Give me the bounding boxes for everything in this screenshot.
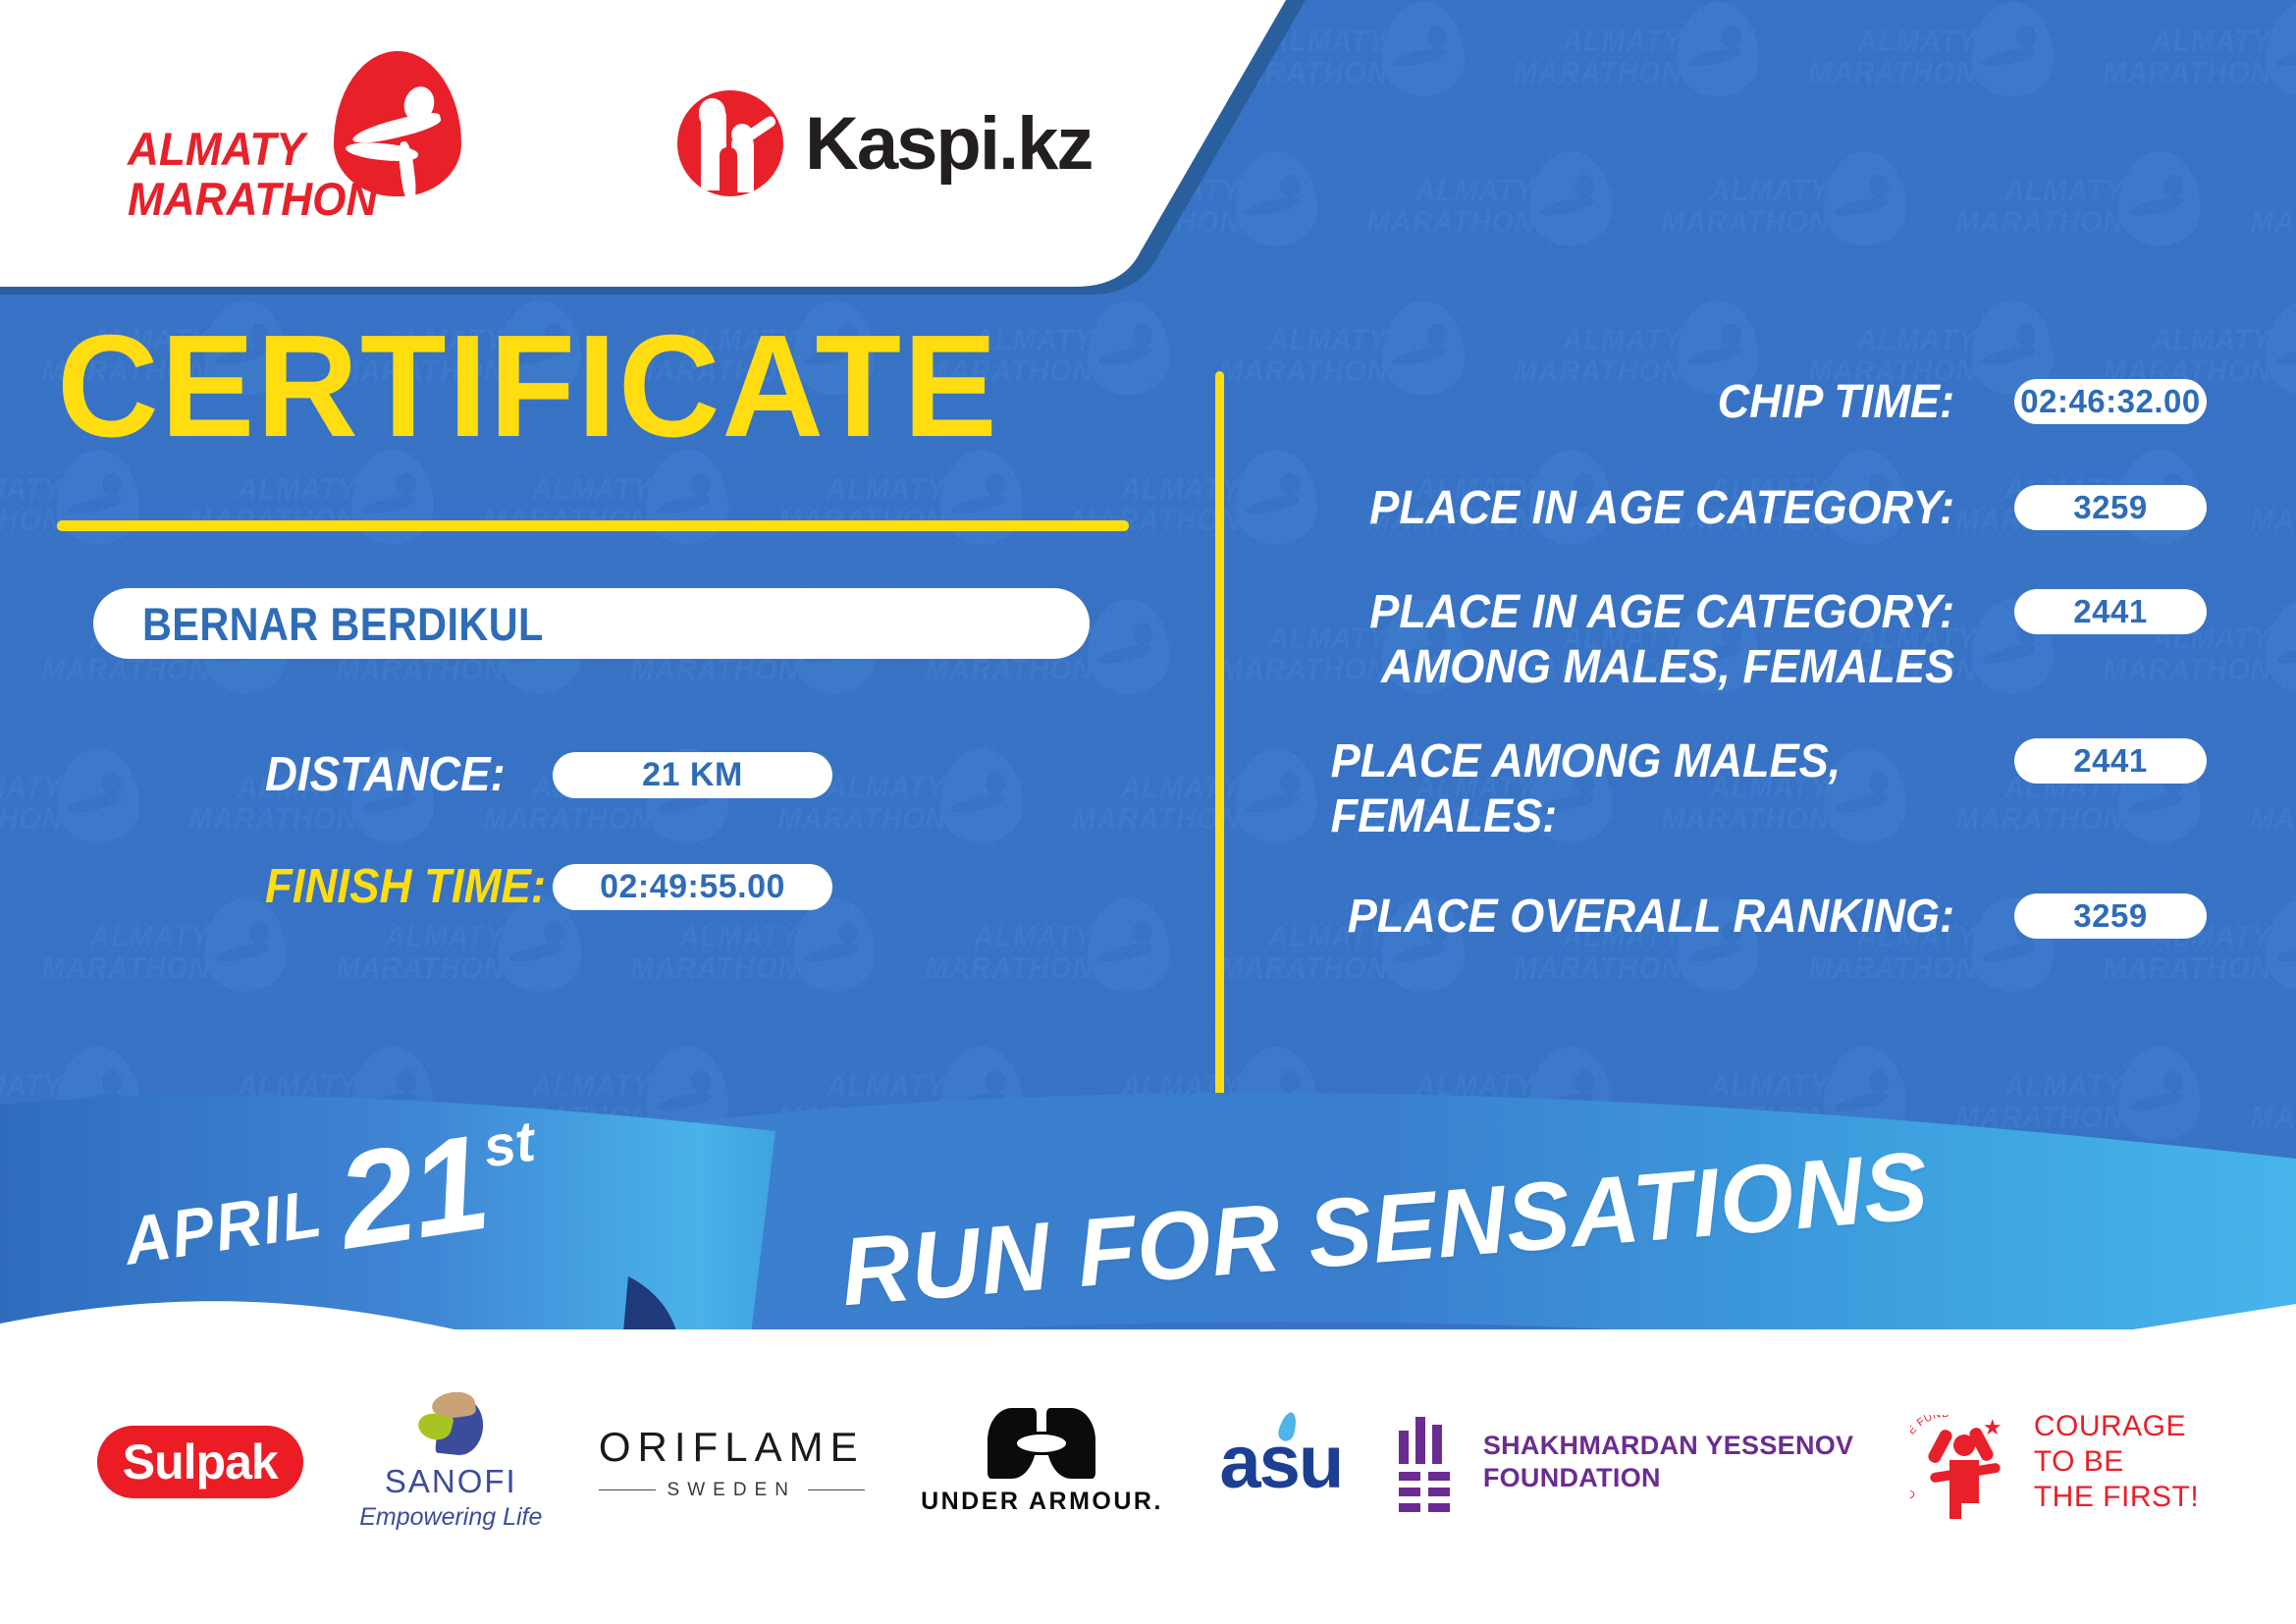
- watermark-drop-icon: [2266, 897, 2296, 992]
- overall-ranking-value: 3259: [2014, 893, 2207, 939]
- sanofi-wordmark: SANOFI: [385, 1463, 517, 1500]
- kaspi-wordmark: Kaspi.kz: [805, 101, 1092, 187]
- event-day: 21: [331, 1121, 494, 1264]
- among-gender-value: 2441: [2014, 738, 2207, 784]
- result-row-age-category: PLACE IN AGE CATEGORY: 3259: [1294, 481, 2207, 536]
- watermark-text: ALMATYMARATHON: [17, 921, 210, 984]
- yess-dash-4: [1428, 1488, 1450, 1496]
- corporate-fund-icon: CORPORATE FUND ★: [1910, 1411, 2016, 1513]
- header-logos: ALMATY MARATHON: [0, 0, 1227, 285]
- finish-time-row: FINISH TIME: 02:49:55.00: [265, 859, 1178, 914]
- watermark-text: ALMATYMARATHON: [606, 921, 799, 984]
- watermark-tile: ALMATYMARATHON: [589, 895, 883, 1043]
- yess-bar-3: [1432, 1425, 1442, 1464]
- yess-bar-1: [1399, 1431, 1409, 1464]
- among-gender-label-line1: PLACE AMONG MALES,: [1331, 735, 1842, 787]
- among-gender-label-line2: FEMALES:: [1331, 790, 1558, 842]
- yess-dash-6: [1428, 1503, 1450, 1512]
- oriflame-subline: SWEDEN: [599, 1480, 865, 1501]
- yessenov-lockup: SHAKHMARDAN YESSENOV FOUNDATION: [1399, 1417, 1854, 1507]
- sponsor-under-armour: UNDER ARMOUR.: [921, 1408, 1163, 1516]
- age-category-gender-label-line2: AMONG MALES, FEMALES: [1381, 641, 1954, 693]
- kaspi-negative-space: [720, 147, 737, 192]
- yessenov-wordmark: SHAKHMARDAN YESSENOV FOUNDATION: [1483, 1430, 1854, 1494]
- result-row-age-category-gender: PLACE IN AGE CATEGORY: AMONG MALES, FEMA…: [1294, 585, 2207, 695]
- among-gender-label: PLACE AMONG MALES, FEMALES:: [1294, 734, 1971, 844]
- header-panel: ALMATY MARATHON: [0, 0, 2296, 295]
- chip-time-value: 02:46:32.00: [2014, 379, 2207, 424]
- cf-leg: [1949, 1497, 1961, 1519]
- watermark-drop-icon: [2266, 599, 2296, 693]
- courage-line-2: TO BE: [2034, 1445, 2124, 1478]
- distance-label: DISTANCE:: [265, 747, 525, 802]
- distance-value: 21 KM: [553, 752, 832, 798]
- watermark-drop-icon: [2266, 300, 2296, 395]
- almaty-marathon-logo: ALMATY MARATHON: [128, 47, 461, 224]
- age-category-gender-label: PLACE IN AGE CATEGORY: AMONG MALES, FEMA…: [1294, 585, 1971, 695]
- sanofi-tagline: Empowering Life: [359, 1503, 542, 1532]
- oriflame-rule-right: [808, 1489, 865, 1491]
- result-row-chip-time: CHIP TIME: 02:46:32.00: [1294, 375, 2207, 430]
- age-category-gender-value: 2441: [2014, 589, 2207, 634]
- yess-dash-5: [1399, 1503, 1420, 1512]
- sponsor-sulpak: Sulpak: [97, 1426, 303, 1498]
- corporate-fund-lockup: CORPORATE FUND ★ COURAGE T: [1910, 1409, 2199, 1515]
- watermark-tile: ALMATYMARATHON: [2209, 448, 2296, 595]
- sanofi-icon: [412, 1392, 489, 1457]
- event-day-ordinal: st: [479, 1109, 539, 1181]
- finish-time-label: FINISH TIME:: [265, 859, 525, 914]
- watermark-tile: ALMATYMARATHON: [883, 895, 1178, 1043]
- yess-dash-3: [1399, 1488, 1420, 1496]
- oriflame-rule-left: [599, 1489, 656, 1491]
- oriflame-country: SWEDEN: [667, 1480, 796, 1501]
- yess-bar-2: [1415, 1417, 1425, 1464]
- sponsor-oriflame: ORIFLAME SWEDEN: [599, 1424, 865, 1501]
- watermark-tile: ALMATYMARATHON: [294, 895, 589, 1043]
- overall-ranking-label: PLACE OVERALL RANKING:: [1294, 890, 1971, 945]
- watermark-text: ALMATYMARATHON: [2225, 473, 2296, 536]
- age-category-value: 3259: [2014, 485, 2207, 530]
- under-armour-icon: [988, 1408, 1095, 1479]
- yess-dash-2: [1428, 1472, 1450, 1481]
- oriflame-wordmark: ORIFLAME: [599, 1424, 865, 1471]
- sponsor-yessenov: SHAKHMARDAN YESSENOV FOUNDATION: [1399, 1417, 1854, 1507]
- chip-time-label: CHIP TIME:: [1294, 375, 1971, 430]
- yessenov-icon: [1399, 1417, 1460, 1507]
- watermark-text: ALMATYMARATHON: [900, 921, 1094, 984]
- result-row-overall: PLACE OVERALL RANKING: 3259: [1294, 890, 2207, 945]
- cf-star-icon: ★: [1983, 1417, 2002, 1438]
- participant-name-field: BERNAR BERDIKUL: [93, 588, 1090, 659]
- yess-dash-1: [1399, 1472, 1420, 1481]
- courage-line-1: COURAGE: [2034, 1410, 2186, 1442]
- page-title: CERTIFICATE: [57, 314, 1145, 460]
- yessenov-line-1: SHAKHMARDAN YESSENOV: [1483, 1431, 1854, 1460]
- age-category-label: PLACE IN AGE CATEGORY:: [1294, 481, 1971, 536]
- certificate-canvas: ALMATYMARATHONALMATYMARATHONALMATYMARATH…: [0, 0, 2296, 1624]
- cf-head: [1953, 1435, 1975, 1456]
- logo-line-1: ALMATY: [128, 123, 305, 175]
- asu-wordmark: asu: [1219, 1420, 1342, 1505]
- distance-row: DISTANCE: 21 KM: [265, 747, 1178, 802]
- sponsor-corporate-fund: CORPORATE FUND ★ COURAGE T: [1910, 1409, 2199, 1515]
- watermark-tile: ALMATYMARATHON: [0, 895, 294, 1043]
- sponsor-asu: asu: [1219, 1420, 1342, 1505]
- results-column: CHIP TIME: 02:46:32.00 PLACE IN AGE CATE…: [1294, 375, 2207, 992]
- watermark-text: ALMATYMARATHON: [2225, 772, 2296, 835]
- left-column: CERTIFICATE BERNAR BERDIKUL DISTANCE: 21…: [0, 314, 1178, 914]
- sponsor-sanofi: SANOFI Empowering Life: [359, 1392, 542, 1532]
- logo-line-2: MARATHON: [128, 173, 377, 225]
- courage-wordmark: COURAGE TO BE THE FIRST!: [2034, 1409, 2199, 1515]
- watermark-tile: ALMATYMARATHON: [2209, 746, 2296, 893]
- yessenov-line-2: FOUNDATION: [1483, 1463, 1661, 1492]
- kaspi-logo: Kaspi.kz: [677, 90, 1092, 196]
- column-divider: [1215, 371, 1224, 1103]
- under-armour-wordmark: UNDER ARMOUR.: [921, 1488, 1163, 1516]
- participant-name-value: BERNAR BERDIKUL: [142, 597, 544, 651]
- age-category-gender-label-line1: PLACE IN AGE CATEGORY:: [1369, 586, 1954, 638]
- sulpak-logo: Sulpak: [97, 1426, 303, 1498]
- watermark-text: ALMATYMARATHON: [311, 921, 505, 984]
- kaspi-circle-icon: [677, 90, 783, 196]
- finish-time-value: 02:49:55.00: [553, 864, 832, 910]
- runner-drop-icon: [334, 51, 461, 196]
- courage-line-3: THE FIRST!: [2034, 1481, 2199, 1513]
- sponsor-strip: Sulpak SANOFI Empowering Life ORIFLAME S…: [0, 1329, 2296, 1624]
- result-row-among-gender: PLACE AMONG MALES, FEMALES: 2441: [1294, 734, 2207, 844]
- event-month: APRIL: [119, 1174, 328, 1279]
- title-divider: [57, 520, 1129, 531]
